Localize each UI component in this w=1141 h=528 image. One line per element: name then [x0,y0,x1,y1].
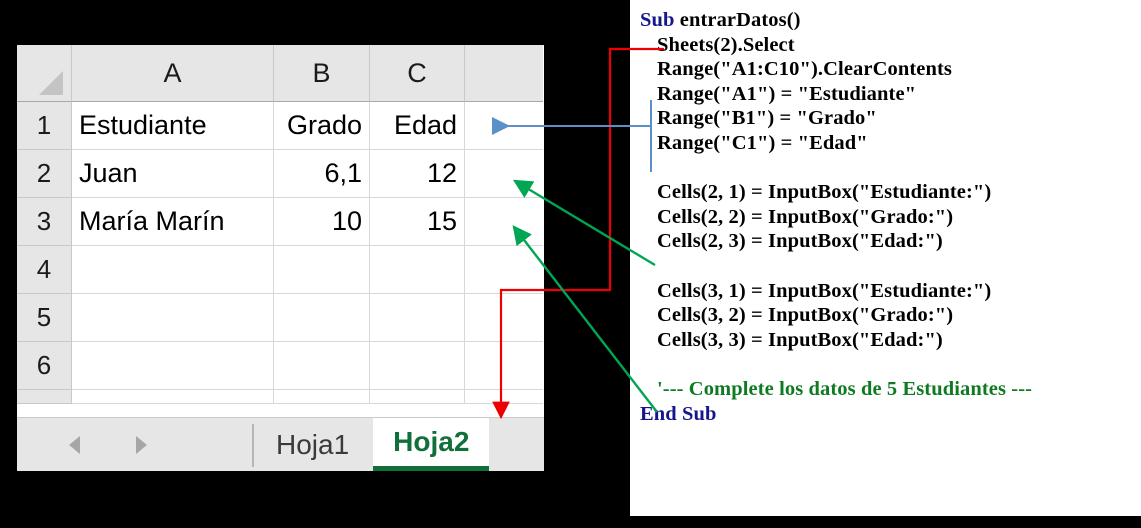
cell-b4[interactable] [274,246,370,294]
cell-a1[interactable]: Estudiante [72,102,274,150]
table-row: 3 María Marín 10 15 [17,198,544,246]
cell-b6[interactable] [274,342,370,390]
cell-b5[interactable] [274,294,370,342]
column-header-b[interactable]: B [274,45,370,102]
keyword-sub: Sub [640,9,675,31]
cell-a7[interactable] [72,390,274,404]
excel-spreadsheet: A B C 1 Estudiante Grado Edad 2 Juan 6,1… [17,45,544,471]
code-line-cells-2-1: Cells(2, 1) = InputBox("Estudiante:") [640,180,1141,205]
code-line-cells-3-3: Cells(3, 3) = InputBox("Edad:") [640,328,1141,353]
row-header-1[interactable]: 1 [17,102,72,150]
cell-a5[interactable] [72,294,274,342]
triangle-right-icon[interactable] [136,436,147,454]
code-line-cells-3-1: Cells(3, 1) = InputBox("Estudiante:") [640,279,1141,304]
row-header-4[interactable]: 4 [17,246,72,294]
cell-c1[interactable]: Edad [370,102,465,150]
row-header-5[interactable]: 5 [17,294,72,342]
sheet-nav-arrows [17,418,197,471]
sheet-tab-hoja1[interactable]: Hoja1 [254,418,371,471]
triangle-left-icon[interactable] [69,436,80,454]
code-blank-line [640,156,1141,181]
code-line-cells-2-3: Cells(2, 3) = InputBox("Edad:") [640,229,1141,254]
cell-a6[interactable] [72,342,274,390]
cell-b3[interactable]: 10 [274,198,370,246]
select-all-corner[interactable] [17,45,72,102]
cell-c7[interactable] [370,390,465,404]
column-header-a[interactable]: A [72,45,274,102]
cell-c4[interactable] [370,246,465,294]
cell-a4[interactable] [72,246,274,294]
cell-c5[interactable] [370,294,465,342]
spreadsheet-grid: A B C 1 Estudiante Grado Edad 2 Juan 6,1… [17,45,544,417]
cell-d6[interactable] [465,342,543,390]
cell-d2[interactable] [465,150,543,198]
table-row: 4 [17,246,544,294]
row-header-7[interactable] [17,390,72,404]
cell-b2[interactable]: 6,1 [274,150,370,198]
code-line-range-a1: Range("A1") = "Estudiante" [640,82,1141,107]
cell-c6[interactable] [370,342,465,390]
code-line-cells-3-2: Cells(3, 2) = InputBox("Grado:") [640,303,1141,328]
code-line-range-c1: Range("C1") = "Edad" [640,131,1141,156]
select-all-triangle-icon [39,71,63,95]
cell-a3[interactable]: María Marín [72,198,274,246]
cell-b7[interactable] [274,390,370,404]
code-line-clear-contents: Range("A1:C10").ClearContents [640,57,1141,82]
code-blank-line [640,352,1141,377]
sheet-tab-bar: Hoja1 Hoja2 [17,417,544,471]
cell-c3[interactable]: 15 [370,198,465,246]
cell-b1[interactable]: Grado [274,102,370,150]
code-line-end-sub: End Sub [640,402,1141,427]
code-line-sub-declaration: Sub entrarDatos() [640,8,1141,33]
code-blank-line [640,254,1141,279]
vba-code-panel: Sub entrarDatos() Sheets(2).Select Range… [630,0,1141,516]
row-header-2[interactable]: 2 [17,150,72,198]
row-header-3[interactable]: 3 [17,198,72,246]
cell-d1[interactable] [465,102,543,150]
table-row: 5 [17,294,544,342]
column-header-c[interactable]: C [370,45,465,102]
sheet-tab-hoja2[interactable]: Hoja2 [373,418,489,471]
cell-d3[interactable] [465,198,543,246]
screenshot-root: A B C 1 Estudiante Grado Edad 2 Juan 6,1… [0,0,1141,528]
code-line-comment: '--- Complete los datos de 5 Estudiantes… [640,377,1141,402]
cell-d7[interactable] [465,390,543,404]
table-row: 1 Estudiante Grado Edad [17,102,544,150]
table-row: 2 Juan 6,1 12 [17,150,544,198]
column-header-d[interactable] [465,45,543,102]
cell-a2[interactable]: Juan [72,150,274,198]
table-row-partial [17,390,544,404]
code-line-cells-2-2: Cells(2, 2) = InputBox("Grado:") [640,205,1141,230]
column-header-row: A B C [17,45,544,102]
code-line-sheets-select: Sheets(2).Select [640,33,1141,58]
procedure-name: entrarDatos() [675,9,801,31]
cell-c2[interactable]: 12 [370,150,465,198]
cell-d5[interactable] [465,294,543,342]
table-row: 6 [17,342,544,390]
cell-d4[interactable] [465,246,543,294]
code-line-range-b1: Range("B1") = "Grado" [640,106,1141,131]
row-header-6[interactable]: 6 [17,342,72,390]
